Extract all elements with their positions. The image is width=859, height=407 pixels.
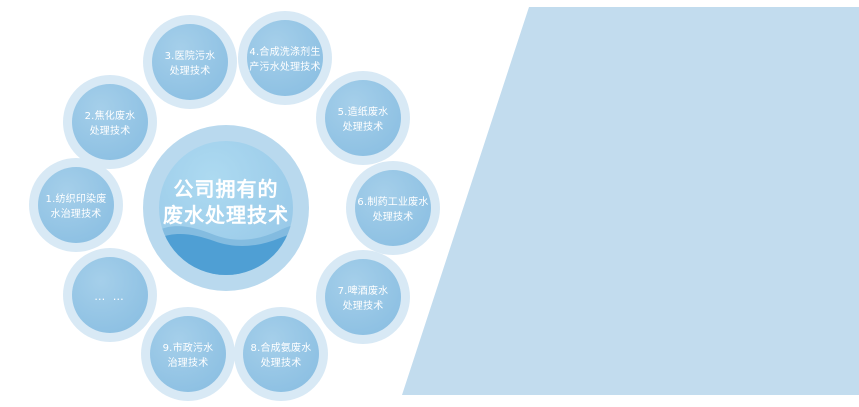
node-inner-circle xyxy=(152,24,228,100)
node-inner-circle xyxy=(325,259,401,335)
node-brewery-wastewater[interactable]: 7.啤酒废水 处理技术 xyxy=(316,250,410,344)
node-inner-circle xyxy=(150,316,226,392)
node-papermaking-wastewater[interactable]: 5.造纸废水 处理技术 xyxy=(316,71,410,165)
node-label-line2: 处理技术 xyxy=(170,64,211,77)
node-label-line2: 处理技术 xyxy=(343,120,384,133)
node-label-line2: 治理技术 xyxy=(168,356,209,369)
node-synthetic-ammonia-wastewater[interactable]: 8.合成氨废水 处理技术 xyxy=(234,307,328,401)
node-label-line1: 1.纺织印染废 xyxy=(46,192,107,205)
node-more-ellipsis[interactable]: … … xyxy=(63,248,157,342)
node-inner-circle xyxy=(247,20,323,96)
node-municipal-sewage[interactable]: 9.市政污水 治理技术 xyxy=(141,307,235,401)
node-label-line1: 7.啤酒废水 xyxy=(338,284,389,297)
node-label-line2: 处理技术 xyxy=(90,124,131,137)
node-label-line2: 处理技术 xyxy=(373,210,414,223)
node-label-line1: 4.合成洗涤剂生 xyxy=(249,45,320,58)
right-angled-panel xyxy=(402,7,859,395)
node-label-line1: 8.合成氨废水 xyxy=(251,341,312,354)
node-label-line2: 产污水处理技术 xyxy=(249,60,320,73)
node-inner-circle xyxy=(243,316,319,392)
wastewater-technology-diagram: 1.纺织印染废 水治理技术 2.焦化废水 处理技术 3.医院污水 处理技术 4.… xyxy=(0,0,859,407)
node-pharmaceutical-wastewater[interactable]: 6.制药工业废水 处理技术 xyxy=(346,161,440,255)
center-title-line1: 公司拥有的 xyxy=(174,177,279,201)
node-label-line1: 3.医院污水 xyxy=(165,49,216,62)
node-label-line1: 5.造纸废水 xyxy=(338,105,389,118)
diagram-canvas: 1.纺织印染废 水治理技术 2.焦化废水 处理技术 3.医院污水 处理技术 4.… xyxy=(0,0,859,407)
node-hospital-sewage[interactable]: 3.医院污水 处理技术 xyxy=(143,15,237,109)
node-detergent-production[interactable]: 4.合成洗涤剂生 产污水处理技术 xyxy=(238,11,332,105)
node-ellipsis-label: … … xyxy=(94,290,126,303)
node-inner-circle xyxy=(355,170,431,246)
node-label-line1: 2.焦化废水 xyxy=(85,109,136,122)
node-label-line2: 水治理技术 xyxy=(51,207,102,220)
node-label-line1: 6.制药工业废水 xyxy=(357,195,428,208)
node-inner-circle xyxy=(72,84,148,160)
node-textile-dyeing[interactable]: 1.纺织印染废 水治理技术 xyxy=(29,158,123,252)
node-label-line1: 9.市政污水 xyxy=(163,341,214,354)
center-hub[interactable]: 公司拥有的 废水处理技术 xyxy=(143,125,309,292)
center-title-line2: 废水处理技术 xyxy=(163,203,289,227)
node-label-line2: 处理技术 xyxy=(343,299,384,312)
node-inner-circle xyxy=(38,167,114,243)
node-coking-wastewater[interactable]: 2.焦化废水 处理技术 xyxy=(63,75,157,169)
node-inner-circle xyxy=(325,80,401,156)
node-label-line2: 处理技术 xyxy=(261,356,302,369)
